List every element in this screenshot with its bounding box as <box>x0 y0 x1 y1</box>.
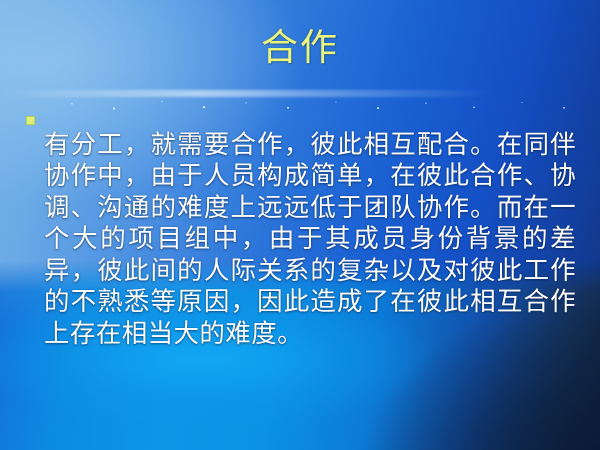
slide-body: 有分工，就需要合作，彼此相互配合。在同伴协作中，由于人员构成简单，在彼此合作、协… <box>26 104 576 376</box>
presentation-slide: 合作 有分工，就需要合作，彼此相互配合。在同伴协作中，由于人员构成简单，在彼此合… <box>0 0 600 450</box>
slide-content: 合作 有分工，就需要合作，彼此相互配合。在同伴协作中，由于人员构成简单，在彼此合… <box>0 0 600 450</box>
bullet-item-label: 有分工，就需要合作，彼此相互配合。在同伴协作中，由于人员构成简单，在彼此合作、协… <box>44 130 576 351</box>
square-bullet-icon <box>26 116 35 125</box>
bullet-list-item: 有分工，就需要合作，彼此相互配合。在同伴协作中，由于人员构成简单，在彼此合作、协… <box>26 104 576 376</box>
slide-title: 合作 <box>0 26 600 70</box>
